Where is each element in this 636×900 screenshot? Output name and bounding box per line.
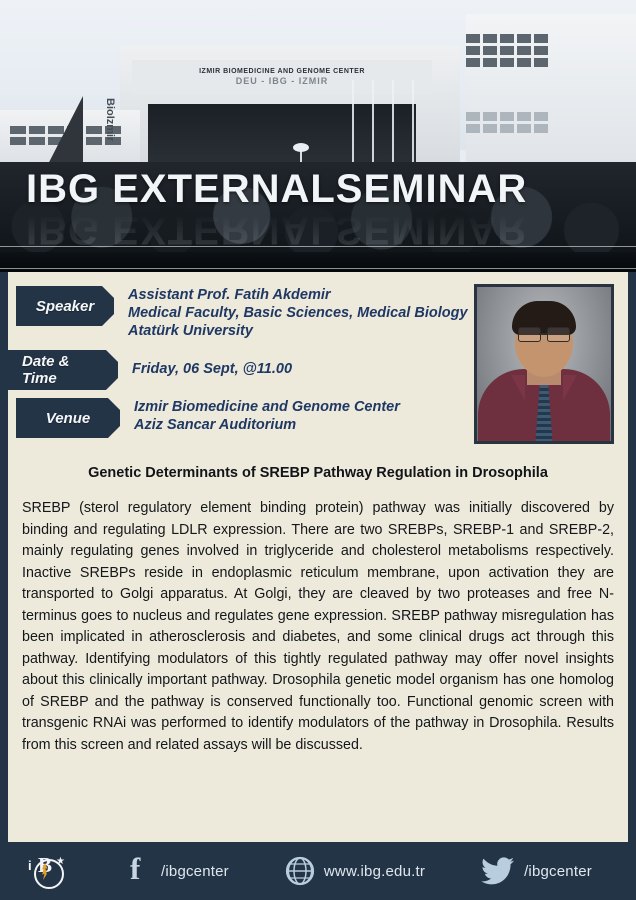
- facebook-link[interactable]: /ibgcenter: [66, 857, 229, 885]
- venue-label-tag: Venue: [16, 398, 120, 438]
- footer-bar: i B ★ /ibgcenter www.ibg.edu.tr: [0, 842, 636, 900]
- speaker-label-tag: Speaker: [16, 286, 114, 326]
- talk-abstract: SREBP (sterol regulatory element binding…: [8, 482, 628, 766]
- twitter-link[interactable]: /ibgcenter: [425, 857, 592, 885]
- venue-line1: Izmir Biomedicine and Genome Center: [134, 398, 400, 416]
- facebook-icon: [130, 857, 152, 885]
- speaker-photo: [474, 284, 614, 444]
- website-link[interactable]: www.ibg.edu.tr: [229, 856, 425, 886]
- poster-title-block: IBG EXTERNALSEMINAR IBG EXTERNALSEMINAR: [26, 169, 527, 250]
- speaker-affiliation: Medical Faculty, Basic Sciences, Medical…: [128, 304, 468, 322]
- facebook-handle: /ibgcenter: [161, 863, 229, 880]
- speaker-name: Assistant Prof. Fatih Akdemir: [128, 286, 468, 304]
- header-bottom-strip: [0, 252, 636, 272]
- venue-line2: Aziz Sancar Auditorium: [134, 416, 400, 434]
- speaker-values: Assistant Prof. Fatih Akdemir Medical Fa…: [128, 286, 468, 340]
- seminar-details: Speaker Assistant Prof. Fatih Akdemir Me…: [8, 272, 628, 458]
- seminar-poster: IZMIR BIOMEDICINE AND GENOME CENTER DEU …: [0, 0, 636, 900]
- poster-title-reflection: IBG EXTERNALSEMINAR: [26, 210, 527, 250]
- venue-values: Izmir Biomedicine and Genome Center Aziz…: [134, 398, 400, 434]
- talk-title: Genetic Determinants of SREBP Pathway Re…: [8, 458, 628, 482]
- header-rule-lower: [0, 268, 636, 269]
- ibg-logo-icon: i B ★: [24, 851, 66, 891]
- poster-title: IBG EXTERNALSEMINAR: [26, 169, 527, 209]
- header-banner-photo: IZMIR BIOMEDICINE AND GENOME CENTER DEU …: [0, 0, 636, 272]
- twitter-icon: [481, 857, 515, 885]
- globe-icon: [285, 856, 315, 886]
- photo-collar-left: [511, 375, 525, 401]
- tower-window-grid: [466, 34, 548, 67]
- datetime-value: Friday, 06 Sept, @11.00: [132, 350, 292, 378]
- photo-eyeglasses: [518, 327, 570, 341]
- twitter-handle: /ibgcenter: [524, 863, 592, 880]
- building-sign-line1: IZMIR BIOMEDICINE AND GENOME CENTER: [199, 68, 365, 75]
- photo-collar-right: [563, 375, 577, 401]
- poster-body: Speaker Assistant Prof. Fatih Akdemir Me…: [8, 272, 628, 842]
- datetime-label-tag: Date & Time: [8, 350, 118, 390]
- website-url: www.ibg.edu.tr: [324, 863, 425, 880]
- speaker-university: Atatürk University: [128, 322, 468, 340]
